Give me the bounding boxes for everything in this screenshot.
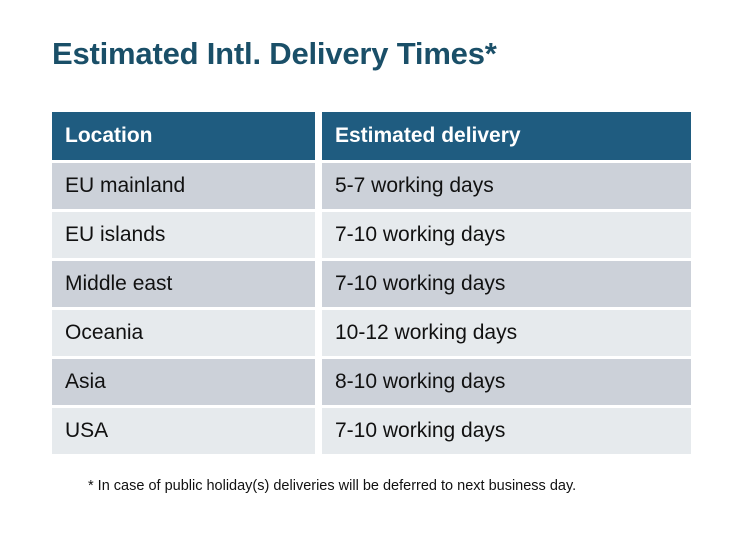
column-header-estimated-delivery: Estimated delivery: [322, 112, 691, 160]
cell-location: USA: [52, 408, 315, 454]
cell-location: Middle east: [52, 261, 315, 307]
table-row: Oceania 10-12 working days: [52, 310, 691, 356]
table-row: EU mainland 5-7 working days: [52, 163, 691, 209]
table-row: Asia 8-10 working days: [52, 359, 691, 405]
cell-delivery: 7-10 working days: [322, 408, 691, 454]
cell-delivery: 7-10 working days: [322, 212, 691, 258]
cell-location: Asia: [52, 359, 315, 405]
table-header-row: Location Estimated delivery: [52, 112, 691, 160]
cell-delivery: 8-10 working days: [322, 359, 691, 405]
cell-delivery: 5-7 working days: [322, 163, 691, 209]
table-row: EU islands 7-10 working days: [52, 212, 691, 258]
delivery-times-table: Location Estimated delivery EU mainland …: [52, 112, 691, 457]
page-title: Estimated Intl. Delivery Times*: [52, 36, 497, 72]
cell-location: EU islands: [52, 212, 315, 258]
footnote-text: * In case of public holiday(s) deliverie…: [88, 478, 576, 494]
cell-location: Oceania: [52, 310, 315, 356]
cell-delivery: 10-12 working days: [322, 310, 691, 356]
table-row: Middle east 7-10 working days: [52, 261, 691, 307]
cell-location: EU mainland: [52, 163, 315, 209]
table-row: USA 7-10 working days: [52, 408, 691, 454]
cell-delivery: 7-10 working days: [322, 261, 691, 307]
delivery-times-infographic: Estimated Intl. Delivery Times* Location…: [0, 0, 745, 536]
column-header-location: Location: [52, 112, 315, 160]
